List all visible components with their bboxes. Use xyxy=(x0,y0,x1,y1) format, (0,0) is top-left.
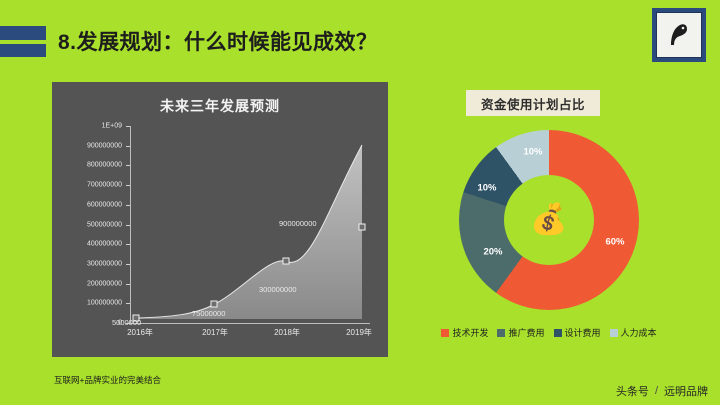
legend-swatch xyxy=(441,329,449,337)
x-axis-line xyxy=(130,323,370,324)
y-tick-label: 700000000 xyxy=(87,182,122,189)
legend-swatch xyxy=(554,329,562,337)
legend-label: 人力成本 xyxy=(621,326,657,339)
y-tick-label: 200000000 xyxy=(87,280,122,287)
y-tick-label: 300000000 xyxy=(87,260,122,267)
legend-label: 技术开发 xyxy=(452,326,488,339)
legend-swatch xyxy=(497,329,505,337)
data-point-label: 75000000 xyxy=(192,309,225,318)
slice-label-technology: 60% xyxy=(605,237,624,248)
footer-platform: 头条号 xyxy=(616,383,649,399)
legend-label: 推广费用 xyxy=(508,326,544,339)
y-tick-label: 600000000 xyxy=(87,201,122,208)
slide-canvas: 8.发展规划：什么时候能见成效？ 未来三年发展预测 1E+09 90000000… xyxy=(0,0,720,405)
y-tick-label: 1E+09 xyxy=(102,123,122,130)
y-tick-label: 500000000 xyxy=(87,221,122,228)
area-series-svg xyxy=(130,126,368,319)
legend-swatch xyxy=(610,329,618,337)
data-point-label: 900000000 xyxy=(279,219,317,228)
slice-label-promotion: 20% xyxy=(483,247,502,258)
donut-legend: 技术开发 推广费用 设计费用 人力成本 xyxy=(424,326,674,339)
legend-item-technology: 技术开发 xyxy=(441,326,488,339)
y-axis-labels: 1E+09 900000000 800000000 700000000 6000… xyxy=(52,126,126,323)
decor-bar-bottom xyxy=(0,44,46,57)
line-chart-title: 未来三年发展预测 xyxy=(52,96,388,116)
data-point-marker xyxy=(211,301,218,308)
legend-item-design: 设计费用 xyxy=(554,326,601,339)
slide-footnote: 互联网+品牌实业的完美结合 xyxy=(54,374,161,386)
bird-icon xyxy=(662,18,696,52)
legend-label: 设计费用 xyxy=(565,326,601,339)
line-chart-card: 未来三年发展预测 1E+09 900000000 800000000 70000… xyxy=(52,82,388,357)
y-tick-label: 800000000 xyxy=(87,162,122,169)
footer-attribution: 头条号 / 远明品牌 xyxy=(616,383,708,399)
brand-logo xyxy=(652,8,706,62)
brand-logo-inner xyxy=(656,12,702,58)
donut-chart: 💰 60% 20% 10% 10% xyxy=(459,130,639,310)
legend-item-promotion: 推广费用 xyxy=(497,326,544,339)
legend-item-labor: 人力成本 xyxy=(610,326,657,339)
data-point-marker xyxy=(283,258,290,265)
money-bag-icon: 💰 xyxy=(530,205,567,235)
data-point-label: 5000000 xyxy=(112,318,141,327)
donut-title: 资金使用计划占比 xyxy=(481,94,585,113)
x-tick-label: 2017年 xyxy=(202,327,228,338)
data-point-marker xyxy=(359,224,366,231)
slice-label-labor: 10% xyxy=(523,147,542,158)
y-tick-label: 100000000 xyxy=(87,300,122,307)
footer-account: 远明品牌 xyxy=(664,383,708,399)
x-tick-label: 2018年 xyxy=(274,327,300,338)
slice-label-design: 10% xyxy=(477,183,496,194)
x-tick-label: 2019年 xyxy=(346,327,372,338)
page-title: 8.发展规划：什么时候能见成效？ xyxy=(58,26,378,56)
footer-separator: / xyxy=(655,385,658,397)
donut-title-banner: 资金使用计划占比 xyxy=(466,90,600,116)
decor-bar-top xyxy=(0,26,46,40)
data-point-label: 300000000 xyxy=(259,285,297,294)
donut-center: 💰 xyxy=(504,175,594,265)
y-tick-label: 400000000 xyxy=(87,241,122,248)
x-tick-label: 2016年 xyxy=(127,327,153,338)
area-series xyxy=(130,126,368,319)
y-tick-label: 900000000 xyxy=(87,142,122,149)
